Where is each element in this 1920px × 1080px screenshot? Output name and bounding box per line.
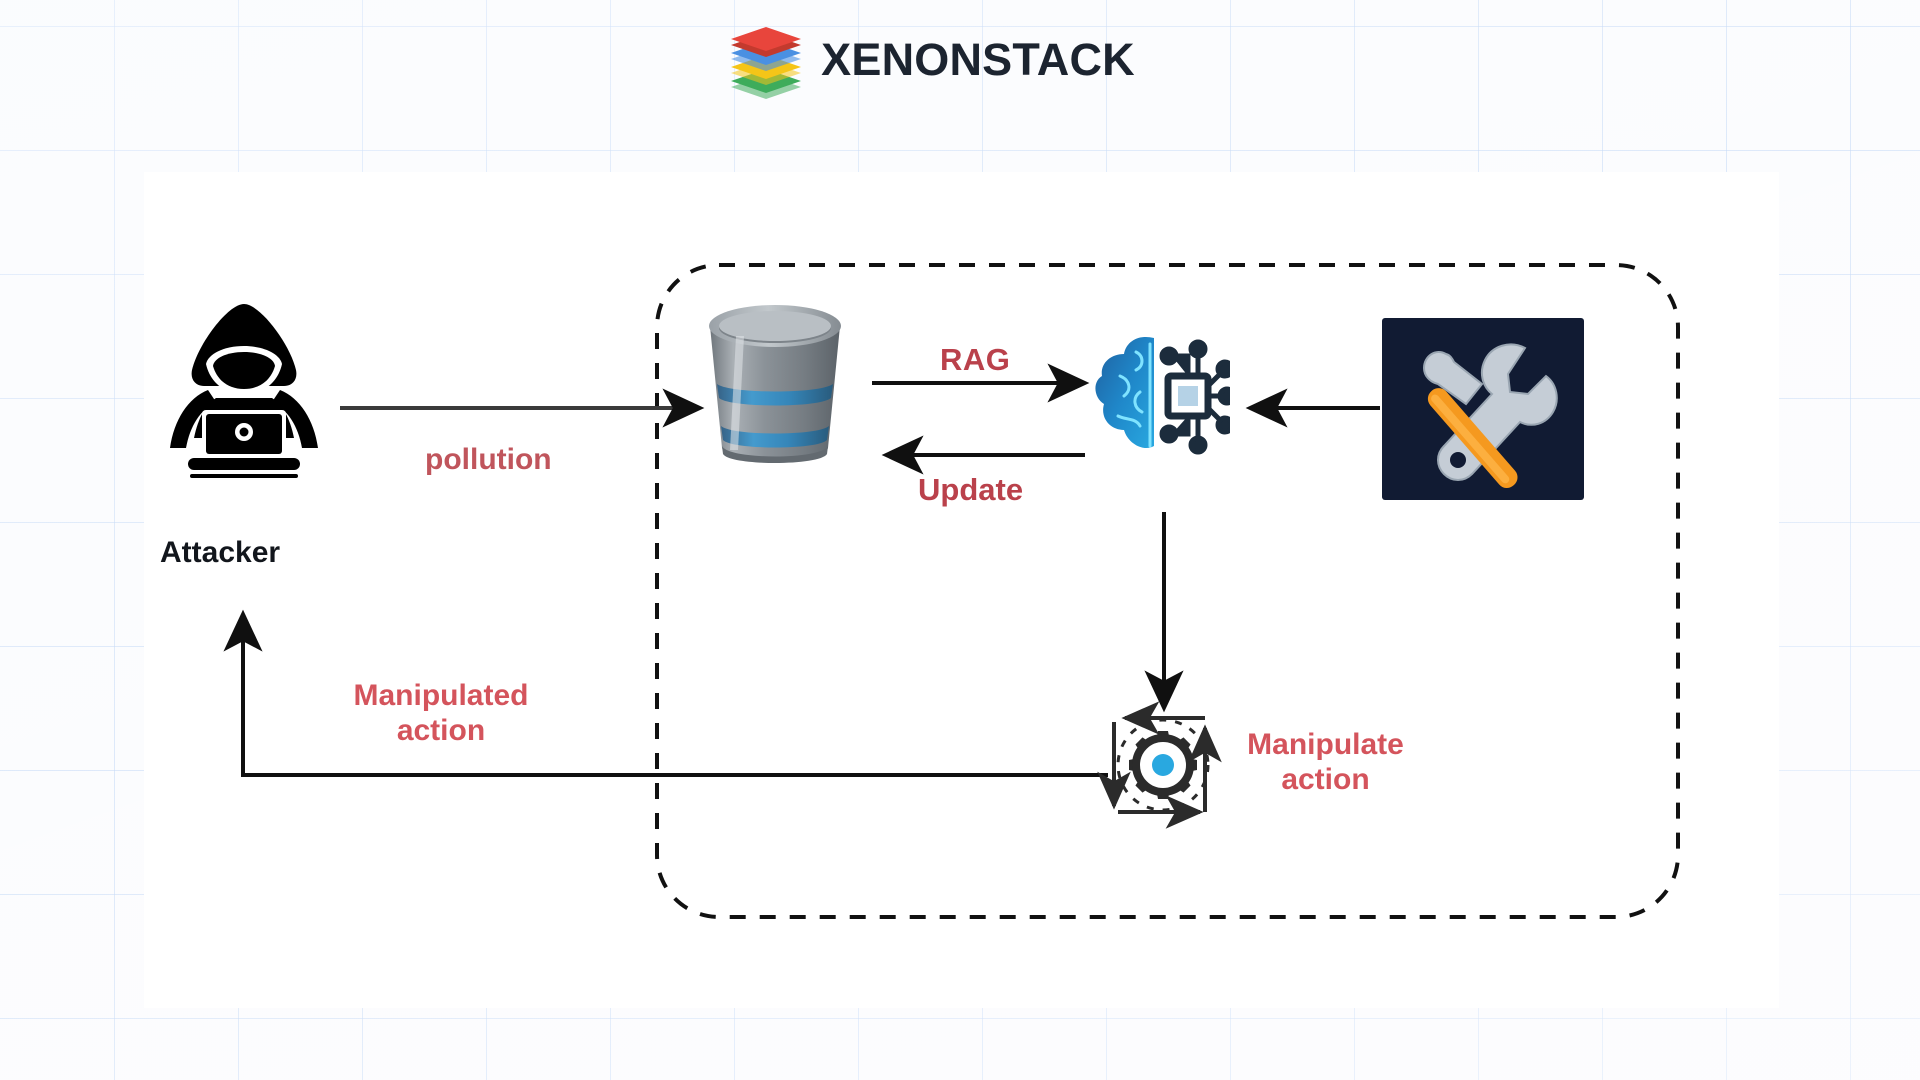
tools-hammer-wrench-icon (1382, 318, 1584, 500)
diagram-card (144, 172, 1779, 1008)
brand-header: XENONSTACK (0, 0, 1920, 120)
rotating-gear-action-icon (1108, 710, 1218, 820)
edge-label-rag: RAG (940, 342, 1010, 379)
edge-label-pollution: pollution (425, 442, 552, 477)
database-cylinder-icon (700, 300, 850, 480)
attacker-icon (158, 298, 330, 480)
edge-label-update: Update (918, 472, 1023, 509)
brand-name: XENONSTACK (821, 34, 1135, 86)
diagram-page: XENONSTACK (0, 0, 1920, 1080)
node-label-attacker: Attacker (160, 535, 280, 570)
stacked-layers-logo-icon (725, 19, 807, 101)
edge-label-manipulated-action: Manipulated action (321, 678, 561, 749)
brand-lockup: XENONSTACK (725, 19, 1135, 101)
ai-brain-chip-icon (1092, 330, 1230, 458)
edge-label-manipulate-action: Manipulate action (1218, 727, 1433, 798)
